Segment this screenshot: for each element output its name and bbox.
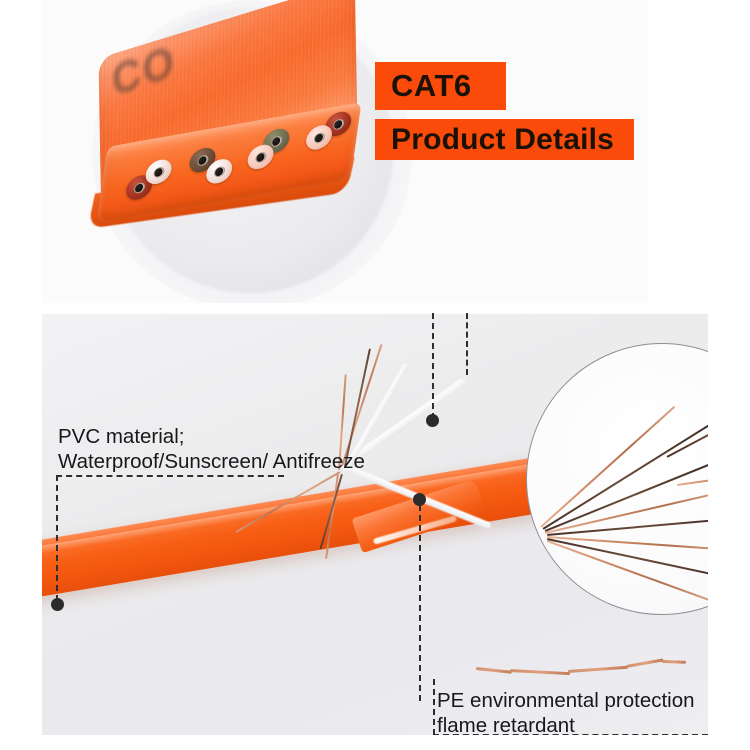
callout-line-pvc-vertical: [56, 475, 58, 601]
callout-label-pvc: PVC material; Waterproof/Sunscreen/ Anti…: [58, 424, 365, 474]
wire-segment-1: [476, 667, 512, 674]
callout-line-upper-vertical: [432, 313, 434, 419]
magnifier-circle: [526, 343, 708, 615]
callout-label-pe: PE environmental protection flame retard…: [437, 688, 695, 738]
conductor-pink-4: [305, 123, 334, 151]
magnified-strand-1: [540, 406, 675, 528]
callout-line-secondary-vertical: [466, 313, 468, 375]
wire-segment-4: [626, 658, 664, 668]
conductor-pair-3: [247, 126, 297, 167]
conductor-pair-1: [125, 157, 175, 198]
product-detail-image: CO: [0, 0, 750, 750]
bottom-photo-panel: [42, 313, 708, 735]
callout-line-pe-bracket-vertical: [433, 679, 435, 735]
single-copper-wire-illustration: [476, 659, 684, 677]
wire-segment-5: [662, 660, 686, 664]
magnified-strand-7: [547, 538, 708, 581]
wire-segment-3: [568, 666, 628, 673]
bottom-white-margin: [0, 735, 750, 750]
conductor-pair-4: [305, 109, 355, 150]
magnified-strand-8: [547, 540, 708, 604]
banner-cat6: CAT6: [375, 62, 506, 110]
conductor-white-1: [144, 158, 173, 186]
callout-dot-pvc: [51, 598, 64, 611]
callout-label-pvc-line2: Waterproof/Sunscreen/ Antifreeze: [58, 449, 365, 474]
magnified-strand-10: [677, 470, 708, 486]
banner-product-details: Product Details: [375, 119, 634, 160]
callout-dot-upper: [426, 414, 439, 427]
magnified-strand-9: [666, 404, 708, 458]
callout-line-pvc-horizontal: [56, 475, 284, 477]
callout-label-pe-line1: PE environmental protection: [437, 688, 695, 713]
conductor-pair-2: [187, 142, 237, 183]
conductor-pink-3: [246, 143, 275, 171]
callout-label-pvc-line1: PVC material;: [58, 424, 365, 449]
callout-line-pe-vertical: [419, 505, 421, 701]
wire-segment-2: [510, 669, 570, 675]
